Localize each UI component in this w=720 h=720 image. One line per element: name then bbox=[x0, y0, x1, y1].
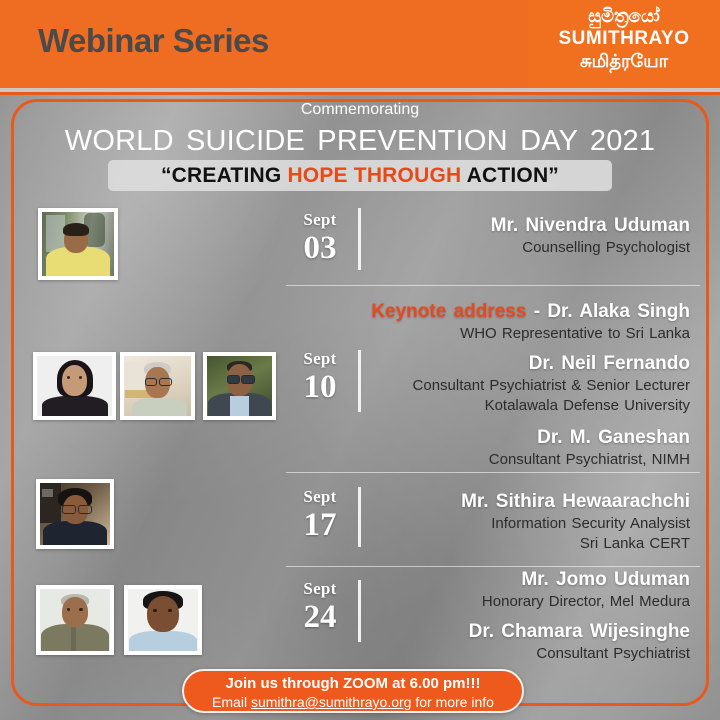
date-separator-bar bbox=[358, 350, 361, 412]
speaker-group-keynote: Keynote address - Dr. Alaka Singh WHO Re… bbox=[371, 300, 690, 344]
date-month-label: Sept bbox=[286, 349, 354, 369]
row-divider bbox=[286, 472, 700, 473]
speaker-entry: Mr. Jomo Uduman Honorary Director, Mel M… bbox=[469, 568, 690, 612]
jomo-uduman-photo bbox=[36, 585, 114, 655]
date-separator-bar bbox=[358, 487, 361, 547]
sithira-hewaarachchi-photo bbox=[36, 479, 114, 549]
speaker-name: - Dr. Alaka Singh bbox=[526, 301, 690, 322]
keynote-line: Keynote address - Dr. Alaka Singh bbox=[371, 300, 690, 324]
speaker-entry: Keynote address - Dr. Alaka Singh WHO Re… bbox=[371, 300, 690, 344]
speaker-role: Counselling Psychologist bbox=[491, 238, 690, 258]
speaker-entry: Dr. Chamara Wijesinghe Consultant Psychi… bbox=[469, 620, 690, 664]
webinar-poster: Webinar Series සුමිත්‍රයෝ SUMITHRAYO சும… bbox=[0, 0, 720, 720]
date-separator-bar bbox=[358, 208, 361, 270]
date-separator-bar bbox=[358, 580, 361, 642]
speaker-role: Consultant Psychiatrist bbox=[469, 644, 690, 664]
speaker-name: Mr. Sithira Hewaarachchi bbox=[461, 490, 690, 514]
header-title: Webinar Series bbox=[38, 22, 269, 60]
neil-fernando-photo bbox=[120, 352, 195, 420]
alaka-singh-photo bbox=[33, 352, 116, 420]
speaker-name: Dr. M. Ganeshan bbox=[413, 426, 690, 450]
speaker-group-sept-10: Dr. Neil Fernando Consultant Psychiatris… bbox=[413, 352, 690, 470]
speaker-role: Honorary Director, Mel Medura bbox=[469, 592, 690, 612]
theme-text-highlight: HOPE THROUGH bbox=[287, 164, 461, 187]
header-bar: Webinar Series සුමිත්‍රයෝ SUMITHRAYO சும… bbox=[0, 0, 720, 88]
speaker-group-sept-17: Mr. Sithira Hewaarachchi Information Sec… bbox=[461, 490, 690, 554]
date-day-label: 10 bbox=[286, 369, 354, 405]
row-divider bbox=[286, 566, 700, 567]
page-title: WORLD SUICIDE PREVENTION DAY 2021 bbox=[0, 125, 720, 158]
speaker-group-sept-03: Mr. Nivendra Uduman Counselling Psycholo… bbox=[491, 214, 690, 258]
date-day-label: 03 bbox=[286, 230, 354, 266]
date-sept-24: Sept 24 bbox=[286, 579, 354, 635]
theme-banner: “CREATING HOPE THROUGH ACTION” bbox=[108, 160, 612, 191]
speaker-role: WHO Representative to Sri Lanka bbox=[371, 324, 690, 344]
email-prefix: Email bbox=[212, 694, 251, 710]
m-ganeshan-photo bbox=[203, 352, 276, 420]
theme-text-pre: “CREATING bbox=[161, 164, 287, 187]
date-sept-03: Sept 03 bbox=[286, 210, 354, 266]
speaker-entry: Dr. M. Ganeshan Consultant Psychiatrist,… bbox=[413, 426, 690, 470]
speaker-entry: Mr. Sithira Hewaarachchi Information Sec… bbox=[461, 490, 690, 554]
commemorating-label: Commemorating bbox=[0, 101, 720, 119]
speaker-role: Sri Lanka CERT bbox=[461, 534, 690, 554]
speaker-name: Mr. Jomo Uduman bbox=[469, 568, 690, 592]
speaker-role: Consultant Psychiatrist & Senior Lecture… bbox=[413, 376, 690, 396]
logo-latin-text: SUMITHRAYO bbox=[528, 28, 720, 50]
date-day-label: 24 bbox=[286, 599, 354, 635]
nivendra-uduman-photo bbox=[38, 208, 118, 280]
email-suffix: for more info bbox=[411, 694, 493, 710]
join-info-banner[interactable]: Join us through ZOOM at 6.00 pm!!! Email… bbox=[182, 669, 524, 713]
date-day-label: 17 bbox=[286, 507, 354, 543]
speaker-name: Mr. Nivendra Uduman bbox=[491, 214, 690, 238]
speaker-role: Consultant Psychiatrist, NIMH bbox=[413, 450, 690, 470]
date-month-label: Sept bbox=[286, 487, 354, 507]
speaker-role: Kotalawala Defense University bbox=[413, 396, 690, 416]
sumithrayo-logo: සුමිත්‍රයෝ SUMITHRAYO சுமித்ரயோ bbox=[528, 0, 720, 88]
email-link[interactable]: sumithra@sumithrayo.org bbox=[251, 694, 412, 710]
date-month-label: Sept bbox=[286, 210, 354, 230]
speaker-group-sept-24: Mr. Jomo Uduman Honorary Director, Mel M… bbox=[469, 568, 690, 664]
keynote-label: Keynote address bbox=[371, 301, 526, 322]
chamara-wijesinghe-photo bbox=[124, 585, 202, 655]
date-sept-10: Sept 10 bbox=[286, 349, 354, 405]
date-month-label: Sept bbox=[286, 579, 354, 599]
email-info-text: Email sumithra@sumithrayo.org for more i… bbox=[184, 693, 522, 711]
zoom-join-text: Join us through ZOOM at 6.00 pm!!! bbox=[184, 671, 522, 693]
logo-tamil-text: சுமித்ரயோ bbox=[528, 50, 720, 73]
speaker-name: Dr. Chamara Wijesinghe bbox=[469, 620, 690, 644]
date-sept-17: Sept 17 bbox=[286, 487, 354, 543]
row-divider bbox=[286, 285, 700, 286]
logo-sinhala-text: සුමිත්‍රයෝ bbox=[528, 6, 720, 28]
speaker-role: Information Security Analysist bbox=[461, 514, 690, 534]
speaker-entry: Dr. Neil Fernando Consultant Psychiatris… bbox=[413, 352, 690, 416]
theme-text-post: ACTION” bbox=[461, 164, 559, 187]
speaker-entry: Mr. Nivendra Uduman Counselling Psycholo… bbox=[491, 214, 690, 258]
speaker-name: Dr. Neil Fernando bbox=[413, 352, 690, 376]
